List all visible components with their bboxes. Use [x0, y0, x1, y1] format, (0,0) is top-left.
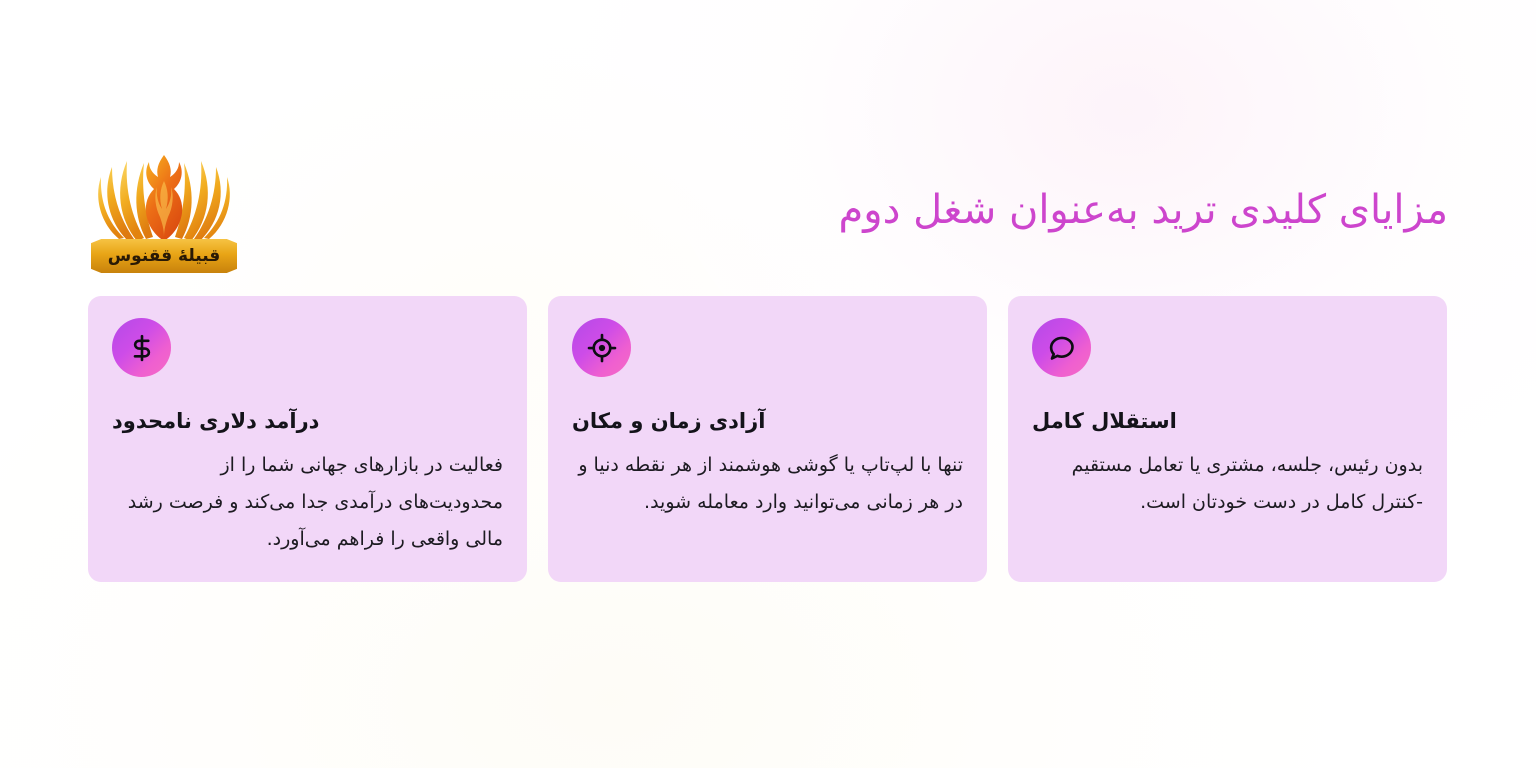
speech-bubble-icon — [1032, 318, 1091, 377]
benefits-card-row: درآمد دلاری نامحدود فعالیت در بازارهای ج… — [88, 296, 1448, 582]
card-title: درآمد دلاری نامحدود — [112, 407, 319, 435]
brand-banner: قبیلهٔ ققنوس — [91, 239, 237, 273]
brand-banner-text: قبیلهٔ ققنوس — [108, 248, 221, 265]
card-body: بدون رئیس، جلسه، مشتری یا تعامل مستقیم -… — [1032, 447, 1423, 521]
page-title: مزایای کلیدی ترید به‌عنوان شغل دوم — [528, 185, 1448, 235]
benefit-card-time-place-freedom[interactable]: آزادی زمان و مکان تنها با لپ‌تاپ یا گوشی… — [548, 296, 987, 582]
crosshair-target-icon — [572, 318, 631, 377]
card-title: استقلال کامل — [1032, 407, 1177, 435]
card-body: فعالیت در بازارهای جهانی شما را از محدود… — [112, 447, 503, 558]
benefit-card-unlimited-income[interactable]: درآمد دلاری نامحدود فعالیت در بازارهای ج… — [88, 296, 527, 582]
card-body: تنها با لپ‌تاپ یا گوشی هوشمند از هر نقطه… — [572, 447, 963, 521]
card-title: آزادی زمان و مکان — [572, 407, 765, 435]
page-root: قبیلهٔ ققنوس مزایای کلیدی ترید به‌عنوان … — [0, 0, 1536, 768]
dollar-sign-icon — [112, 318, 171, 377]
phoenix-logo-icon — [88, 137, 240, 245]
benefit-card-full-independence[interactable]: استقلال کامل بدون رئیس، جلسه، مشتری یا ت… — [1008, 296, 1447, 582]
brand-logo[interactable]: قبیلهٔ ققنوس — [88, 137, 240, 273]
